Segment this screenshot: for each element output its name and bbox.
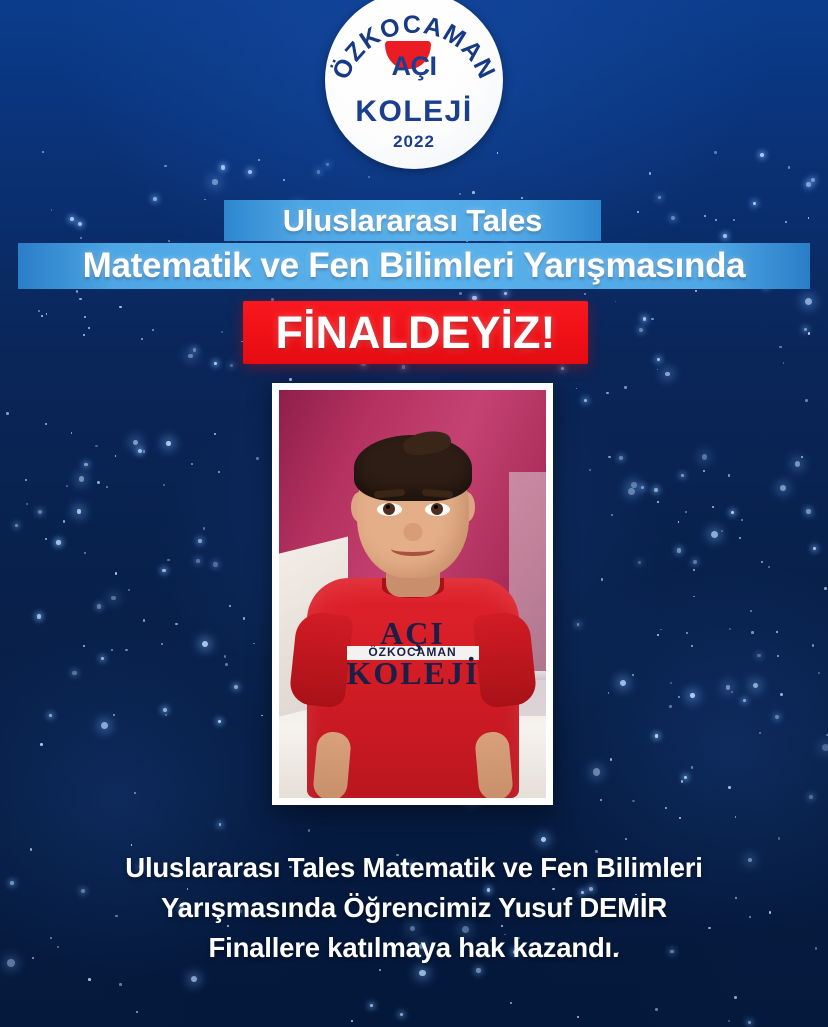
star-dot bbox=[6, 412, 9, 415]
star-dot bbox=[164, 165, 167, 168]
star-dot bbox=[712, 506, 714, 508]
star-dot bbox=[128, 589, 130, 591]
star-dot bbox=[42, 151, 44, 153]
star-dot bbox=[695, 290, 697, 292]
star-dot bbox=[715, 219, 717, 221]
star-dot bbox=[218, 720, 221, 723]
star-dot bbox=[152, 329, 154, 331]
star-dot bbox=[88, 327, 90, 329]
star-dot bbox=[657, 358, 660, 361]
star-dot bbox=[510, 1002, 512, 1004]
star-dot bbox=[785, 221, 787, 223]
star-dot bbox=[243, 617, 245, 619]
star-dot bbox=[472, 296, 476, 300]
tshirt-sleeve-left bbox=[288, 610, 353, 708]
star-dot bbox=[561, 367, 564, 370]
star-dot bbox=[368, 176, 370, 178]
star-dot bbox=[253, 643, 255, 645]
star-dot bbox=[459, 292, 462, 295]
star-dot bbox=[726, 685, 731, 690]
star-dot bbox=[97, 604, 102, 609]
star-dot bbox=[400, 1013, 403, 1016]
star-dot bbox=[601, 578, 604, 581]
star-dot bbox=[606, 392, 608, 394]
star-dot bbox=[38, 310, 40, 312]
star-dot bbox=[379, 969, 381, 971]
star-dot bbox=[133, 440, 138, 445]
star-dot bbox=[49, 714, 52, 717]
star-dot bbox=[584, 293, 586, 295]
star-dot bbox=[677, 548, 682, 553]
star-dot bbox=[317, 170, 321, 174]
star-dot bbox=[643, 317, 647, 321]
star-dot bbox=[229, 605, 231, 607]
star-dot bbox=[655, 1008, 658, 1011]
star-dot bbox=[731, 511, 735, 515]
student-photo-frame: AÇI ÖZKOCAMAN KOLEJİ bbox=[272, 383, 553, 805]
star-dot bbox=[577, 1016, 579, 1018]
star-dot bbox=[225, 663, 228, 666]
star-dot bbox=[402, 365, 406, 369]
caption-line-2: Yarışmasında Öğrencimiz Yusuf DEMİR bbox=[0, 888, 828, 928]
star-dot bbox=[541, 837, 546, 842]
star-dot bbox=[76, 290, 78, 292]
star-dot bbox=[657, 369, 659, 371]
star-dot bbox=[256, 457, 259, 460]
star-dot bbox=[198, 539, 202, 543]
star-dot bbox=[214, 362, 217, 365]
star-dot bbox=[166, 441, 171, 446]
star-dot bbox=[143, 450, 146, 453]
star-dot bbox=[459, 193, 461, 195]
student-nose bbox=[403, 523, 422, 541]
star-dot bbox=[84, 463, 88, 467]
star-dot bbox=[735, 816, 737, 818]
star-dot bbox=[625, 838, 627, 840]
star-dot bbox=[779, 346, 781, 348]
star-dot bbox=[777, 655, 779, 657]
star-dot bbox=[212, 179, 217, 184]
star-dot bbox=[71, 432, 73, 434]
star-dot bbox=[660, 629, 662, 631]
star-dot bbox=[230, 364, 233, 367]
star-dot bbox=[41, 315, 43, 317]
star-dot bbox=[681, 474, 684, 477]
star-dot bbox=[119, 983, 122, 986]
star-dot bbox=[704, 215, 707, 218]
star-dot bbox=[153, 197, 157, 201]
star-dot bbox=[214, 433, 217, 436]
star-dot bbox=[83, 334, 85, 336]
star-dot bbox=[221, 165, 226, 170]
logo-year-label: 2022 bbox=[325, 132, 503, 152]
star-dot bbox=[51, 209, 53, 211]
star-dot bbox=[691, 766, 694, 769]
star-dot bbox=[632, 674, 635, 677]
student-eye-right bbox=[425, 503, 450, 516]
star-dot bbox=[224, 655, 226, 657]
star-dot bbox=[134, 792, 136, 794]
star-dot bbox=[163, 484, 165, 486]
star-dot bbox=[608, 456, 611, 459]
star-dot bbox=[638, 561, 641, 564]
star-dot bbox=[728, 1020, 730, 1022]
star-dot bbox=[163, 708, 167, 712]
star-dot bbox=[657, 501, 659, 503]
star-dot bbox=[681, 780, 683, 782]
star-dot bbox=[804, 328, 807, 331]
star-dot bbox=[15, 524, 18, 527]
star-dot bbox=[788, 166, 791, 169]
star-dot bbox=[25, 479, 27, 481]
star-dot bbox=[748, 1021, 751, 1024]
star-dot bbox=[119, 306, 122, 309]
star-dot bbox=[83, 645, 85, 647]
star-dot bbox=[658, 196, 661, 199]
star-dot bbox=[733, 219, 735, 221]
star-dot bbox=[657, 634, 659, 636]
star-dot bbox=[584, 399, 587, 402]
caption-block: Uluslararası Tales Matematik ve Fen Bili… bbox=[0, 848, 828, 968]
star-dot bbox=[655, 734, 659, 738]
star-dot bbox=[136, 1011, 138, 1013]
star-dot bbox=[768, 566, 770, 568]
star-dot bbox=[79, 298, 82, 301]
star-dot bbox=[193, 348, 197, 352]
star-dot bbox=[261, 715, 263, 717]
star-dot bbox=[805, 298, 812, 305]
student-photo: AÇI ÖZKOCAMAN KOLEJİ bbox=[279, 390, 546, 798]
star-dot bbox=[671, 216, 675, 220]
student-arm-left bbox=[312, 730, 352, 798]
star-dot bbox=[504, 292, 507, 295]
star-dot bbox=[63, 520, 66, 523]
star-dot bbox=[289, 378, 292, 381]
star-dot bbox=[620, 680, 626, 686]
star-dot bbox=[589, 469, 592, 472]
star-dot bbox=[806, 509, 811, 514]
star-dot bbox=[188, 354, 193, 359]
star-dot bbox=[809, 795, 814, 800]
star-dot bbox=[795, 461, 801, 467]
star-dot bbox=[168, 240, 171, 243]
star-dot bbox=[723, 234, 727, 238]
star-dot bbox=[822, 744, 828, 751]
star-dot bbox=[757, 654, 761, 658]
star-dot bbox=[731, 691, 733, 693]
star-dot bbox=[46, 313, 48, 315]
star-dot bbox=[684, 776, 687, 779]
star-dot bbox=[783, 362, 785, 364]
star-dot bbox=[113, 714, 115, 716]
star-dot bbox=[743, 699, 747, 703]
final-badge: FİNALDEYİZ! bbox=[243, 301, 588, 364]
star-dot bbox=[750, 610, 752, 612]
star-dot bbox=[780, 485, 786, 491]
star-dot bbox=[37, 614, 42, 619]
star-dot bbox=[778, 837, 780, 839]
star-dot bbox=[576, 388, 578, 390]
star-dot bbox=[78, 222, 82, 226]
star-dot bbox=[649, 172, 652, 175]
star-dot bbox=[813, 547, 816, 550]
star-dot bbox=[56, 540, 60, 544]
poster-canvas: ÖZKOCAMAN AÇI KOLEJİ 2022 Uluslararası T… bbox=[0, 0, 828, 1027]
star-dot bbox=[806, 182, 811, 187]
star-dot bbox=[678, 521, 680, 523]
star-dot bbox=[702, 454, 708, 460]
star-dot bbox=[761, 561, 763, 563]
star-dot bbox=[734, 996, 737, 999]
star-dot bbox=[138, 449, 142, 453]
star-dot bbox=[191, 463, 193, 465]
star-dot bbox=[196, 559, 200, 563]
star-dot bbox=[751, 631, 754, 634]
star-dot bbox=[728, 786, 731, 789]
star-dot bbox=[84, 316, 86, 318]
star-dot bbox=[805, 399, 808, 402]
star-dot bbox=[370, 1004, 373, 1007]
star-dot bbox=[703, 470, 705, 472]
star-dot bbox=[679, 817, 682, 820]
star-dot bbox=[70, 217, 74, 221]
headline-banner-line1: Uluslararası Tales bbox=[224, 200, 601, 241]
star-dot bbox=[610, 758, 613, 761]
logo-koleji-label: KOLEJİ bbox=[325, 95, 503, 129]
star-dot bbox=[577, 623, 580, 626]
star-dot bbox=[234, 685, 239, 690]
star-dot bbox=[665, 372, 670, 377]
star-dot bbox=[624, 386, 626, 388]
star-dot bbox=[84, 552, 86, 554]
star-dot bbox=[472, 191, 475, 194]
star-dot bbox=[691, 645, 693, 647]
star-dot bbox=[808, 217, 810, 219]
star-dot bbox=[693, 569, 695, 571]
star-dot bbox=[686, 632, 688, 634]
star-dot bbox=[753, 683, 758, 688]
star-dot bbox=[143, 619, 146, 622]
star-dot bbox=[218, 471, 220, 473]
school-logo: ÖZKOCAMAN AÇI KOLEJİ 2022 bbox=[325, 0, 503, 169]
star-dot bbox=[808, 332, 811, 335]
star-dot bbox=[131, 844, 133, 846]
star-dot bbox=[678, 696, 680, 698]
star-dot bbox=[115, 455, 117, 457]
star-dot bbox=[204, 199, 206, 201]
star-dot bbox=[615, 301, 617, 303]
star-dot bbox=[628, 488, 635, 495]
star-dot bbox=[219, 823, 222, 826]
headline-banner-line2: Matematik ve Fen Bilimleri Yarışmasında bbox=[18, 243, 810, 289]
star-dot bbox=[45, 423, 47, 425]
star-dot bbox=[141, 338, 143, 340]
star-dot bbox=[639, 328, 643, 332]
star-dot bbox=[685, 511, 687, 513]
star-dot bbox=[780, 693, 783, 696]
student-arm-right bbox=[474, 730, 514, 798]
star-dot bbox=[162, 569, 166, 573]
star-dot bbox=[165, 714, 167, 716]
star-dot bbox=[611, 514, 613, 516]
star-dot bbox=[72, 671, 77, 676]
star-dot bbox=[641, 486, 644, 489]
star-dot bbox=[619, 456, 623, 460]
star-dot bbox=[88, 978, 91, 981]
star-dot bbox=[283, 179, 285, 181]
star-dot bbox=[111, 649, 113, 651]
star-dot bbox=[161, 643, 163, 645]
star-dot bbox=[101, 722, 108, 729]
star-dot bbox=[714, 151, 717, 154]
star-dot bbox=[759, 732, 761, 734]
star-dot bbox=[258, 159, 260, 161]
tshirt-sleeve-right bbox=[472, 610, 537, 708]
star-dot bbox=[351, 1020, 353, 1022]
star-dot bbox=[670, 682, 672, 684]
star-dot bbox=[669, 705, 672, 708]
star-dot bbox=[824, 587, 827, 590]
star-dot bbox=[711, 531, 718, 538]
star-dot bbox=[521, 197, 523, 199]
star-dot bbox=[419, 970, 426, 977]
star-dot bbox=[631, 482, 637, 488]
star-dot bbox=[637, 211, 639, 213]
star-dot bbox=[632, 800, 635, 803]
tshirt-logo: AÇI ÖZKOCAMAN KOLEJİ bbox=[347, 618, 479, 688]
star-dot bbox=[167, 559, 170, 562]
star-dot bbox=[760, 153, 764, 157]
star-dot bbox=[476, 968, 481, 973]
star-dot bbox=[101, 657, 105, 661]
star-dot bbox=[97, 481, 100, 484]
star-dot bbox=[721, 530, 723, 532]
student-mouth bbox=[391, 542, 435, 556]
star-dot bbox=[812, 644, 815, 647]
star-dot bbox=[654, 488, 658, 492]
star-dot bbox=[95, 445, 98, 448]
star-dot bbox=[38, 510, 42, 514]
star-dot bbox=[175, 623, 178, 626]
star-dot bbox=[111, 596, 116, 601]
star-dot bbox=[801, 456, 803, 458]
star-dot bbox=[106, 486, 108, 488]
star-dot bbox=[600, 799, 602, 801]
aci-badge: AÇI bbox=[371, 41, 457, 91]
star-dot bbox=[26, 503, 28, 505]
caption-line-3: Finallere katılmaya hak kazandı. bbox=[0, 928, 828, 968]
star-dot bbox=[811, 178, 815, 182]
tshirt-logo-line3: KOLEJİ bbox=[347, 658, 479, 689]
star-dot bbox=[593, 768, 600, 775]
star-dot bbox=[693, 596, 695, 598]
star-dot bbox=[753, 202, 756, 205]
star-dot bbox=[690, 693, 695, 698]
star-dot bbox=[608, 692, 610, 694]
star-dot bbox=[739, 537, 741, 539]
star-dot bbox=[115, 572, 118, 575]
star-dot bbox=[818, 672, 820, 674]
star-dot bbox=[66, 485, 68, 487]
star-dot bbox=[776, 631, 778, 633]
star-dot bbox=[693, 560, 697, 564]
star-dot bbox=[77, 509, 82, 514]
star-dot bbox=[202, 641, 208, 647]
star-dot bbox=[45, 538, 47, 540]
star-dot bbox=[213, 562, 217, 566]
star-dot bbox=[651, 318, 653, 320]
star-dot bbox=[775, 715, 779, 719]
star-dot bbox=[191, 976, 198, 983]
star-dot bbox=[125, 649, 128, 652]
star-dot bbox=[40, 743, 43, 746]
student-eye-left bbox=[377, 503, 402, 516]
caption-line-1: Uluslararası Tales Matematik ve Fen Bili… bbox=[0, 848, 828, 888]
star-dot bbox=[741, 519, 744, 522]
star-dot bbox=[80, 237, 82, 239]
star-dot bbox=[728, 474, 730, 476]
star-dot bbox=[203, 527, 206, 530]
star-dot bbox=[221, 331, 223, 333]
star-dot bbox=[729, 628, 731, 630]
star-dot bbox=[248, 170, 252, 174]
star-dot bbox=[79, 476, 84, 481]
star-dot bbox=[665, 807, 668, 810]
star-dot bbox=[308, 829, 311, 832]
aci-label: AÇI bbox=[371, 53, 457, 80]
